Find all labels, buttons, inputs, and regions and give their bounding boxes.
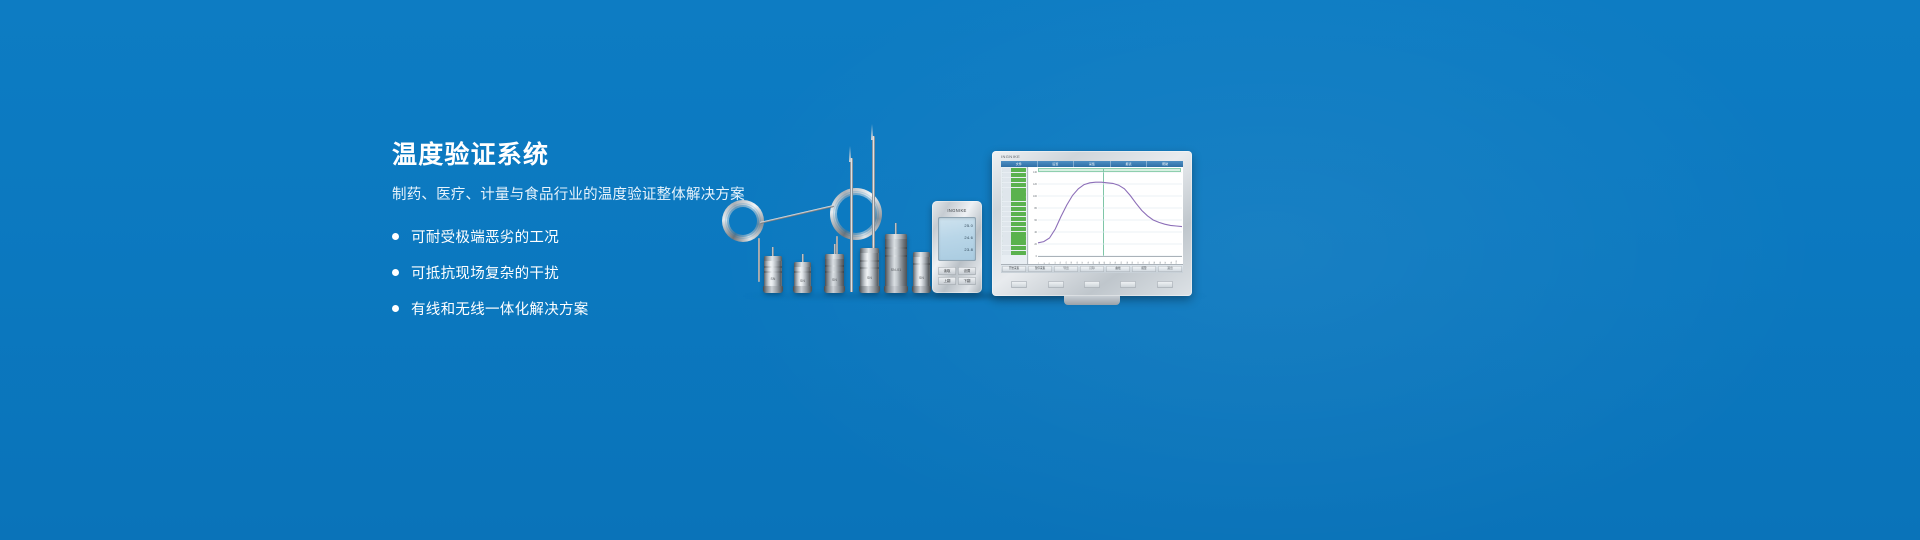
channel-row[interactable] (1002, 202, 1026, 206)
button-alarm[interactable]: 报警 (1132, 266, 1157, 272)
chart-plot-area (1038, 172, 1182, 256)
channel-row[interactable] (1002, 173, 1026, 177)
channel-row[interactable] (1002, 232, 1026, 236)
button-exit[interactable]: 退出 (1158, 266, 1183, 272)
handheld-key-up[interactable]: 上翻 (938, 277, 956, 285)
feature-label: 可抵抗现场复杂的干扰 (411, 262, 559, 283)
needle-probe-short (850, 158, 853, 292)
bullet-dot-icon (392, 233, 399, 240)
software-button-bar[interactable]: 开始采集 暂停采集 导出 打印 曲线 报警 退出 (1001, 264, 1183, 273)
lcd-reading-3: 23.8 (941, 247, 973, 253)
chart-y-tick-label: 100 (1029, 195, 1037, 198)
channel-row[interactable] (1002, 197, 1026, 201)
handheld-key-read[interactable]: 读取 (938, 267, 956, 275)
chart-y-tick-label: 0 (1029, 255, 1037, 258)
lcd-reading-1: 25.0 (941, 223, 973, 229)
chart-y-tick-label: 140 (1029, 171, 1037, 174)
monitor-screen[interactable]: 文件 设置 采集 报表 帮助 (1001, 161, 1183, 273)
chart-y-tick-label: 20 (1029, 243, 1037, 246)
feature-label: 可耐受极端恶劣的工况 (411, 226, 559, 247)
monitor-control-panel[interactable] (1001, 277, 1183, 292)
coiled-wire-probe-large (830, 188, 886, 244)
handheld-reader[interactable]: INGNIKE 25.0 24.6 23.8 读取 设置 上翻 下翻 (932, 201, 982, 293)
chart-y-tick-label: 80 (1029, 207, 1037, 210)
channel-row[interactable] (1002, 192, 1026, 196)
monitor-button-minus[interactable] (1048, 281, 1064, 288)
channel-row[interactable] (1002, 227, 1026, 231)
chart-y-tick-label: 40 (1029, 231, 1037, 234)
promo-banner: 温度验证系统 制药、医疗、计量与食品行业的温度验证整体解决方案 可耐受极端恶劣的… (0, 0, 1920, 540)
channel-row[interactable] (1002, 212, 1026, 216)
monitor-brand-label: INGNIKE (1001, 154, 1020, 159)
validation-monitor: INGNIKE 文件 设置 采集 报表 帮助 (992, 151, 1192, 296)
channel-row[interactable] (1002, 222, 1026, 226)
channel-row[interactable] (1002, 188, 1026, 192)
monitor-button-plus[interactable] (1084, 281, 1100, 288)
handheld-key-setup[interactable]: 设置 (958, 267, 976, 275)
handheld-brand-label: INGNIKE (937, 207, 977, 214)
data-logger-small-2: SN (794, 262, 811, 293)
button-start-acquire[interactable]: 开始采集 (1002, 266, 1027, 272)
data-logger-tall-1: SN (860, 248, 879, 293)
channel-row[interactable] (1002, 178, 1026, 182)
channel-row[interactable] (1002, 168, 1026, 172)
chart-x-tick-labels: 0481216202428323640444852566064687276808… (1038, 258, 1182, 264)
channel-row[interactable] (1002, 217, 1026, 221)
channel-list-panel[interactable] (1001, 167, 1028, 264)
button-pause-acquire[interactable]: 暂停采集 (1028, 266, 1053, 272)
button-curve[interactable]: 曲线 (1106, 266, 1131, 272)
channel-row[interactable] (1002, 246, 1026, 250)
needle-probe-short-tip (849, 146, 851, 162)
monitor-button-power[interactable] (1157, 281, 1173, 288)
handheld-keypad[interactable]: 读取 设置 上翻 下翻 (938, 267, 976, 287)
handheld-lcd-screen: 25.0 24.6 23.8 (938, 217, 976, 261)
feature-label: 有线和无线一体化解决方案 (411, 298, 589, 319)
chart-y-tick-label: 60 (1029, 219, 1037, 222)
monitor-stand (1064, 296, 1120, 305)
data-logger-tall-2: SN-01 (885, 234, 907, 293)
chart-x-tick-label: 100 (1176, 258, 1182, 264)
bullet-dot-icon (392, 305, 399, 312)
channel-row[interactable] (1002, 236, 1026, 240)
handheld-key-down[interactable]: 下翻 (958, 277, 976, 285)
channel-row[interactable] (1002, 241, 1026, 245)
bullet-dot-icon (392, 269, 399, 276)
button-print[interactable]: 打印 (1080, 266, 1105, 272)
channel-row[interactable] (1002, 207, 1026, 211)
data-logger-small-1: SN (764, 256, 782, 293)
lcd-reading-2: 24.6 (941, 235, 973, 241)
product-photo-group: SN SN SN SN (700, 118, 1220, 318)
data-logger-wide: SN (913, 252, 930, 293)
channel-row[interactable] (1002, 251, 1026, 255)
chart-y-axis (1029, 167, 1038, 264)
monitor-button-auto[interactable] (1120, 281, 1136, 288)
monitor-button-menu[interactable] (1011, 281, 1027, 288)
temperature-chart: 0481216202428323640444852566064687276808… (1029, 167, 1183, 264)
channel-row[interactable] (1002, 183, 1026, 187)
data-logger-medium: SN (825, 254, 844, 293)
needle-probe-tall-tip (871, 124, 873, 140)
chart-y-tick-label: 120 (1029, 183, 1037, 186)
button-export[interactable]: 导出 (1054, 266, 1079, 272)
probe-lead-wire (760, 205, 835, 224)
